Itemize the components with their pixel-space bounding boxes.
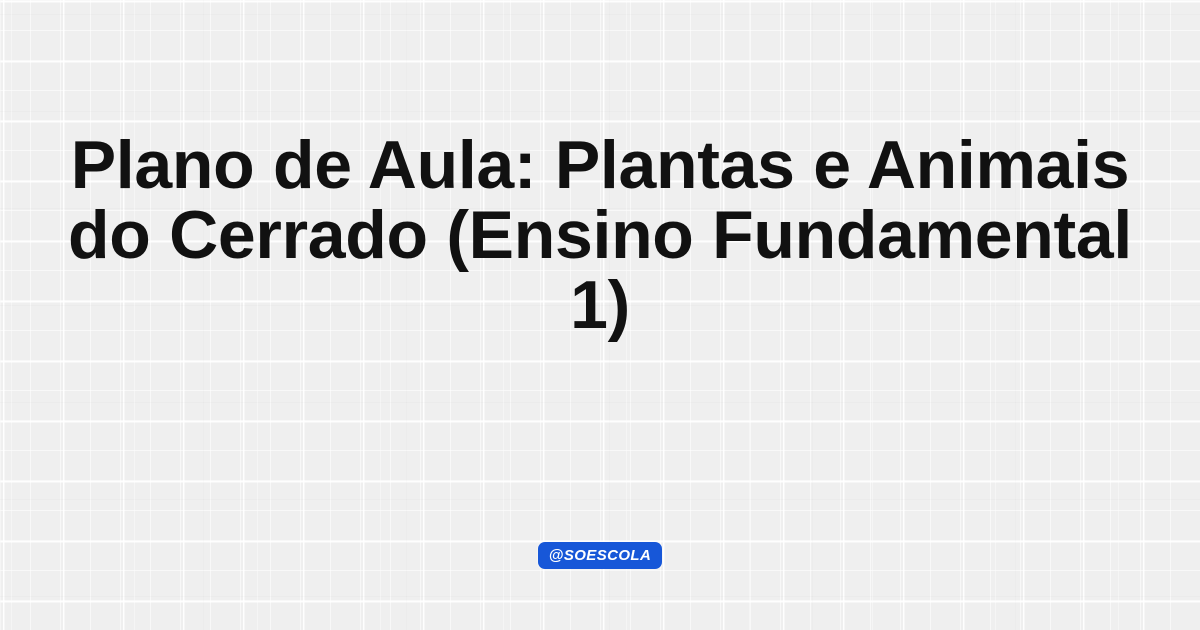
page-title: Plano de Aula: Plantas e Animais do Cerr… [55,130,1145,340]
watermark-badge: @SOESCOLA [538,542,662,569]
title-block: Plano de Aula: Plantas e Animais do Cerr… [0,0,1200,470]
poster-canvas: Plano de Aula: Plantas e Animais do Cerr… [0,0,1200,630]
watermark-row: @SOESCOLA [0,542,1200,569]
